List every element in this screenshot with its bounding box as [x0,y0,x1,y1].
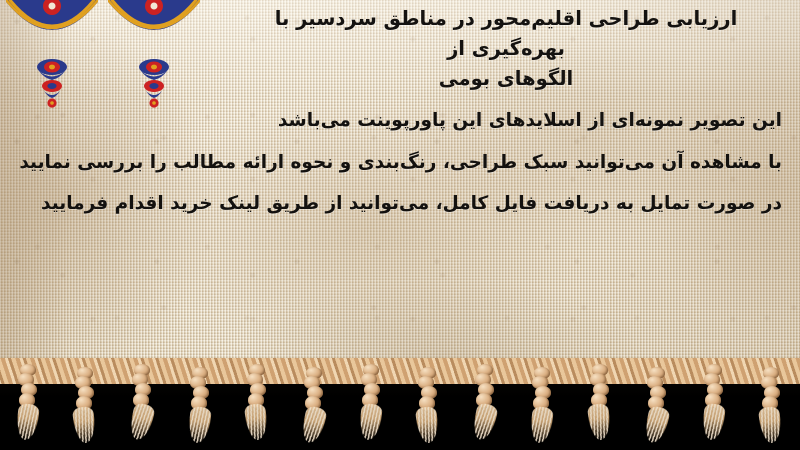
tassel-brush [642,405,671,445]
fringe-tassel [531,367,553,443]
slide-title-line-2: الگوهای بومی [439,67,573,90]
tassel-brush [128,402,157,442]
body-line: در صورت تمایل به دریافت فایل کامل، می‌تو… [8,195,782,214]
tassel-brush [244,403,269,441]
tassel-brush [701,403,726,441]
fringe-selvedge-rope [0,358,800,384]
fringe-tassel [189,367,211,443]
tassel-brush [299,405,328,445]
fringe-tassel [360,364,382,440]
fringe-tassel [74,367,96,443]
fringe-tassel [760,367,782,443]
fringe-tassel [246,364,268,440]
slide-body: این تصویر نمونه‌ای از اسلایدهای این پاور… [8,112,792,214]
body-line: این تصویر نمونه‌ای از اسلایدهای این پاور… [8,112,782,131]
tassel-brush [187,406,212,444]
tassel-brush [15,403,40,441]
tassel-brush [758,406,783,444]
fringe-tassel [131,364,153,440]
tassel-brush [415,406,440,444]
tassel-brush [72,406,97,444]
body-line: با مشاهده آن می‌توانید سبک طراحی، رنگ‌بن… [8,154,782,173]
tassel-brush [530,406,555,444]
tassel-brush [358,403,383,441]
fringe-tassel [589,364,611,440]
fringe-tassel [17,364,39,440]
slide-title-line-1: ارزیابی طراحی اقلیم‌محور در مناطق سردسیر… [275,7,738,60]
fringe-tassel [474,364,496,440]
fringe-tassel [303,367,325,443]
fringe-tassel [703,364,725,440]
slide-title: ارزیابی طراحی اقلیم‌محور در مناطق سردسیر… [226,4,786,95]
tassel-brush [586,403,611,441]
slide-canvas: ارزیابی طراحی اقلیم‌محور در مناطق سردسیر… [0,0,800,450]
carpet-fringe-border [0,358,800,450]
tassel-brush [471,402,500,442]
fringe-tassel [417,367,439,443]
fringe-tassel [646,367,668,443]
